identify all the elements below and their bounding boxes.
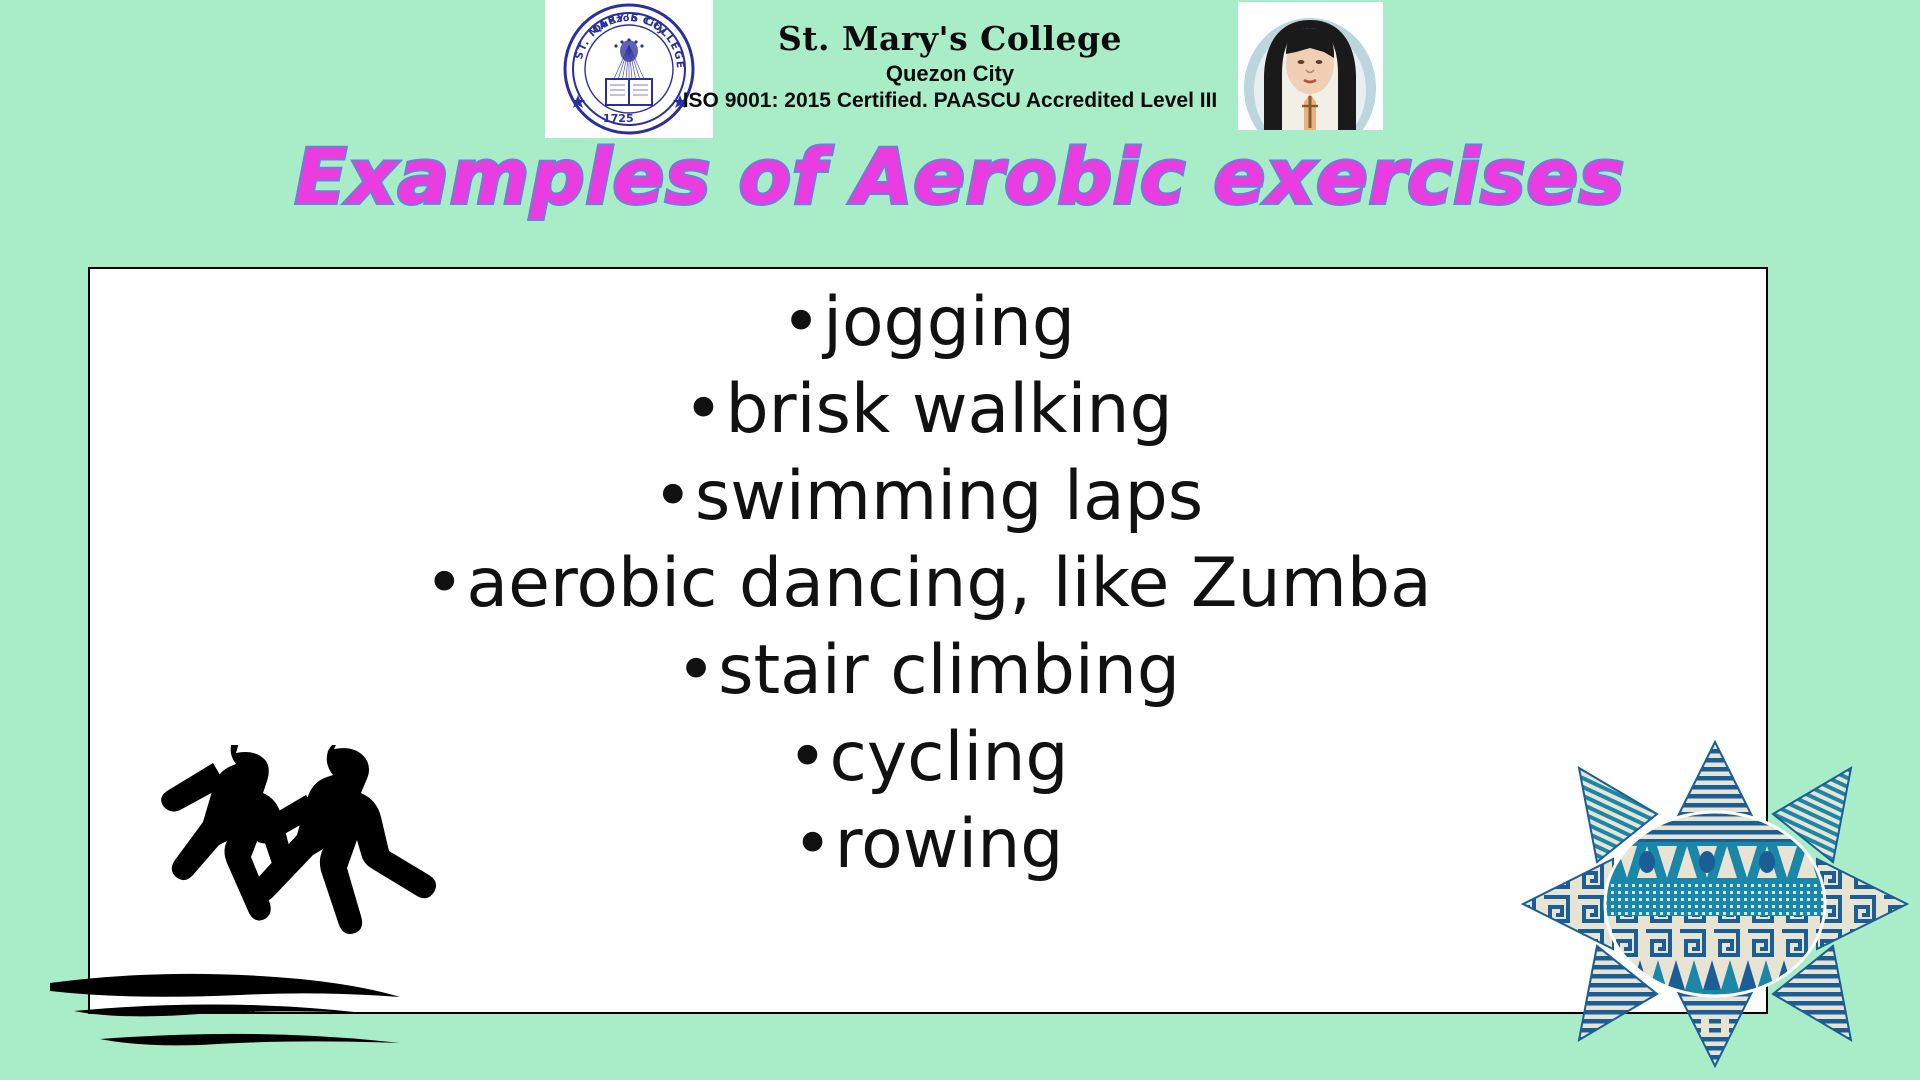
school-accreditation: ISO 9001: 2015 Certified. PAASCU Accredi… <box>640 88 1260 113</box>
list-item: brisk walking <box>90 366 1766 453</box>
list-item: aerobic dancing, like Zumba <box>90 540 1766 627</box>
school-city: Quezon City <box>640 60 1260 88</box>
svg-text:1725: 1725 <box>603 112 634 125</box>
list-item: rowing <box>90 801 1766 888</box>
nun-portrait-icon <box>1238 2 1383 130</box>
list-item: swimming laps <box>90 453 1766 540</box>
content-box: jogging brisk walking swimming laps aero… <box>88 267 1768 1014</box>
list-item: jogging <box>90 279 1766 366</box>
slide-header: ST. MARY'S COLLEGE Quezon City <box>0 0 1920 140</box>
nun-portrait-container <box>1238 2 1383 130</box>
list-item: stair climbing <box>90 627 1766 714</box>
aerobic-exercise-list: jogging brisk walking swimming laps aero… <box>90 279 1766 888</box>
slide-canvas: ST. MARY'S COLLEGE Quezon City <box>0 0 1920 1080</box>
school-crest-icon: ST. MARY'S COLLEGE Quezon City <box>554 1 704 137</box>
school-identity-block: St. Mary's College Quezon City ISO 9001:… <box>640 22 1260 113</box>
school-crest-container: ST. MARY'S COLLEGE Quezon City <box>545 0 713 138</box>
school-name: St. Mary's College <box>640 22 1260 57</box>
list-item: cycling <box>90 714 1766 801</box>
slide-title: Examples of Aerobic exercises <box>0 132 1920 221</box>
